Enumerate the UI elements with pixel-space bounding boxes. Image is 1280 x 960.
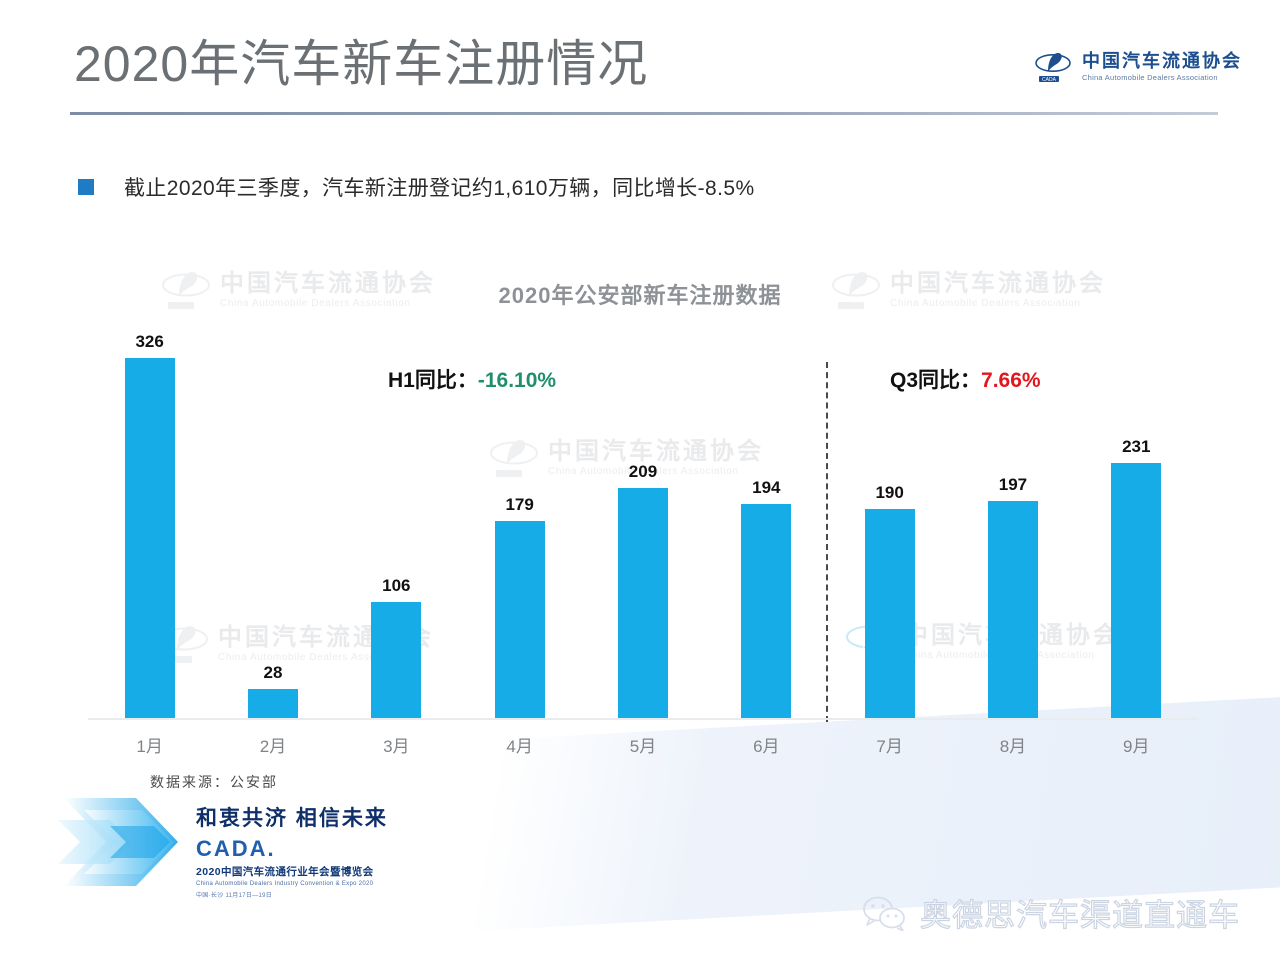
- wechat-icon: [862, 895, 906, 931]
- cada-association-logo: CADA 中国汽车流通协会 China Automobile Dealers A…: [1033, 50, 1242, 84]
- bar-value-label: 179: [505, 495, 533, 515]
- header-divider-rule: [70, 112, 1218, 115]
- bar-7月: [865, 509, 915, 720]
- bar-chart: H1同比：-16.10% Q3同比：7.66% 中国汽车流通协会 China A…: [88, 340, 1198, 760]
- bar-slot: 190: [828, 340, 951, 720]
- bar-value-label: 326: [135, 332, 163, 352]
- bar-slot: 194: [705, 340, 828, 720]
- bar-value-label: 194: [752, 478, 780, 498]
- x-tick-3月: 3月: [335, 732, 458, 757]
- x-tick-5月: 5月: [581, 732, 704, 757]
- bar-3月: [371, 602, 421, 720]
- slide-root: 2020年汽车新车注册情况 CADA 中国汽车流通协会 China Automo…: [0, 0, 1280, 960]
- bar-8月: [988, 501, 1038, 720]
- bar-2月: [248, 689, 298, 720]
- event-line-cn: 2020中国汽车流通行业年会暨博览会: [196, 864, 388, 879]
- event-brand: CADA.: [196, 836, 388, 862]
- bar-5月: [618, 488, 668, 720]
- bar-9月: [1111, 463, 1161, 720]
- footer-account-name: 奥德思汽车渠道直通车: [920, 890, 1240, 935]
- bar-series: 32628106179209194190197231: [88, 340, 1198, 720]
- bar-slot: 326: [88, 340, 211, 720]
- bar-slot: 28: [211, 340, 334, 720]
- bar-slot: 209: [581, 340, 704, 720]
- cada-logo-cn: 中国汽车流通协会: [1082, 52, 1242, 71]
- x-tick-9月: 9月: [1075, 732, 1198, 757]
- bar-value-label: 197: [999, 475, 1027, 495]
- x-tick-7月: 7月: [828, 732, 951, 757]
- x-tick-6月: 6月: [705, 732, 828, 757]
- bar-value-label: 106: [382, 576, 410, 596]
- square-bullet-icon: [78, 179, 94, 195]
- page-title: 2020年汽车新车注册情况: [74, 32, 648, 96]
- summary-bullet-row: 截止2020年三季度，汽车新注册登记约1,610万辆，同比增长-8.5%: [78, 172, 755, 202]
- summary-bullet-text: 截止2020年三季度，汽车新注册登记约1,610万辆，同比增长-8.5%: [124, 172, 755, 202]
- cada-logo-icon: CADA: [1033, 50, 1073, 84]
- event-arrow-graphic-icon: [58, 792, 208, 892]
- x-tick-1月: 1月: [88, 732, 211, 757]
- cada-logo-en: China Automobile Dealers Association: [1082, 74, 1242, 82]
- bar-slot: 179: [458, 340, 581, 720]
- bar-slot: 106: [335, 340, 458, 720]
- event-logo: 和衷共济 相信未来 CADA. 2020中国汽车流通行业年会暨博览会 China…: [58, 788, 388, 893]
- bar-slot: 197: [951, 340, 1074, 720]
- footer-wechat-watermark: 奥德思汽车渠道直通车: [862, 890, 1240, 935]
- bar-6月: [741, 504, 791, 720]
- bar-value-label: 190: [875, 483, 903, 503]
- x-tick-4月: 4月: [458, 732, 581, 757]
- x-tick-8月: 8月: [951, 732, 1074, 757]
- bar-value-label: 231: [1122, 437, 1150, 457]
- x-axis-baseline: [88, 718, 1198, 720]
- x-axis-tick-labels: 1月2月3月4月5月6月7月8月9月: [88, 732, 1198, 757]
- bar-slot: 231: [1075, 340, 1198, 720]
- chart-title: 2020年公安部新车注册数据: [0, 278, 1280, 310]
- bar-value-label: 28: [264, 663, 283, 683]
- bar-4月: [495, 521, 545, 720]
- event-line-en: China Automobile Dealers Industry Conven…: [196, 881, 388, 887]
- svg-text:CADA: CADA: [1042, 77, 1057, 83]
- event-slogan: 和衷共济 相信未来: [196, 802, 388, 832]
- bar-value-label: 209: [629, 462, 657, 482]
- event-line-venue: 中国·长沙 11月17日—19日: [196, 890, 388, 899]
- bar-1月: [125, 358, 175, 720]
- x-tick-2月: 2月: [211, 732, 334, 757]
